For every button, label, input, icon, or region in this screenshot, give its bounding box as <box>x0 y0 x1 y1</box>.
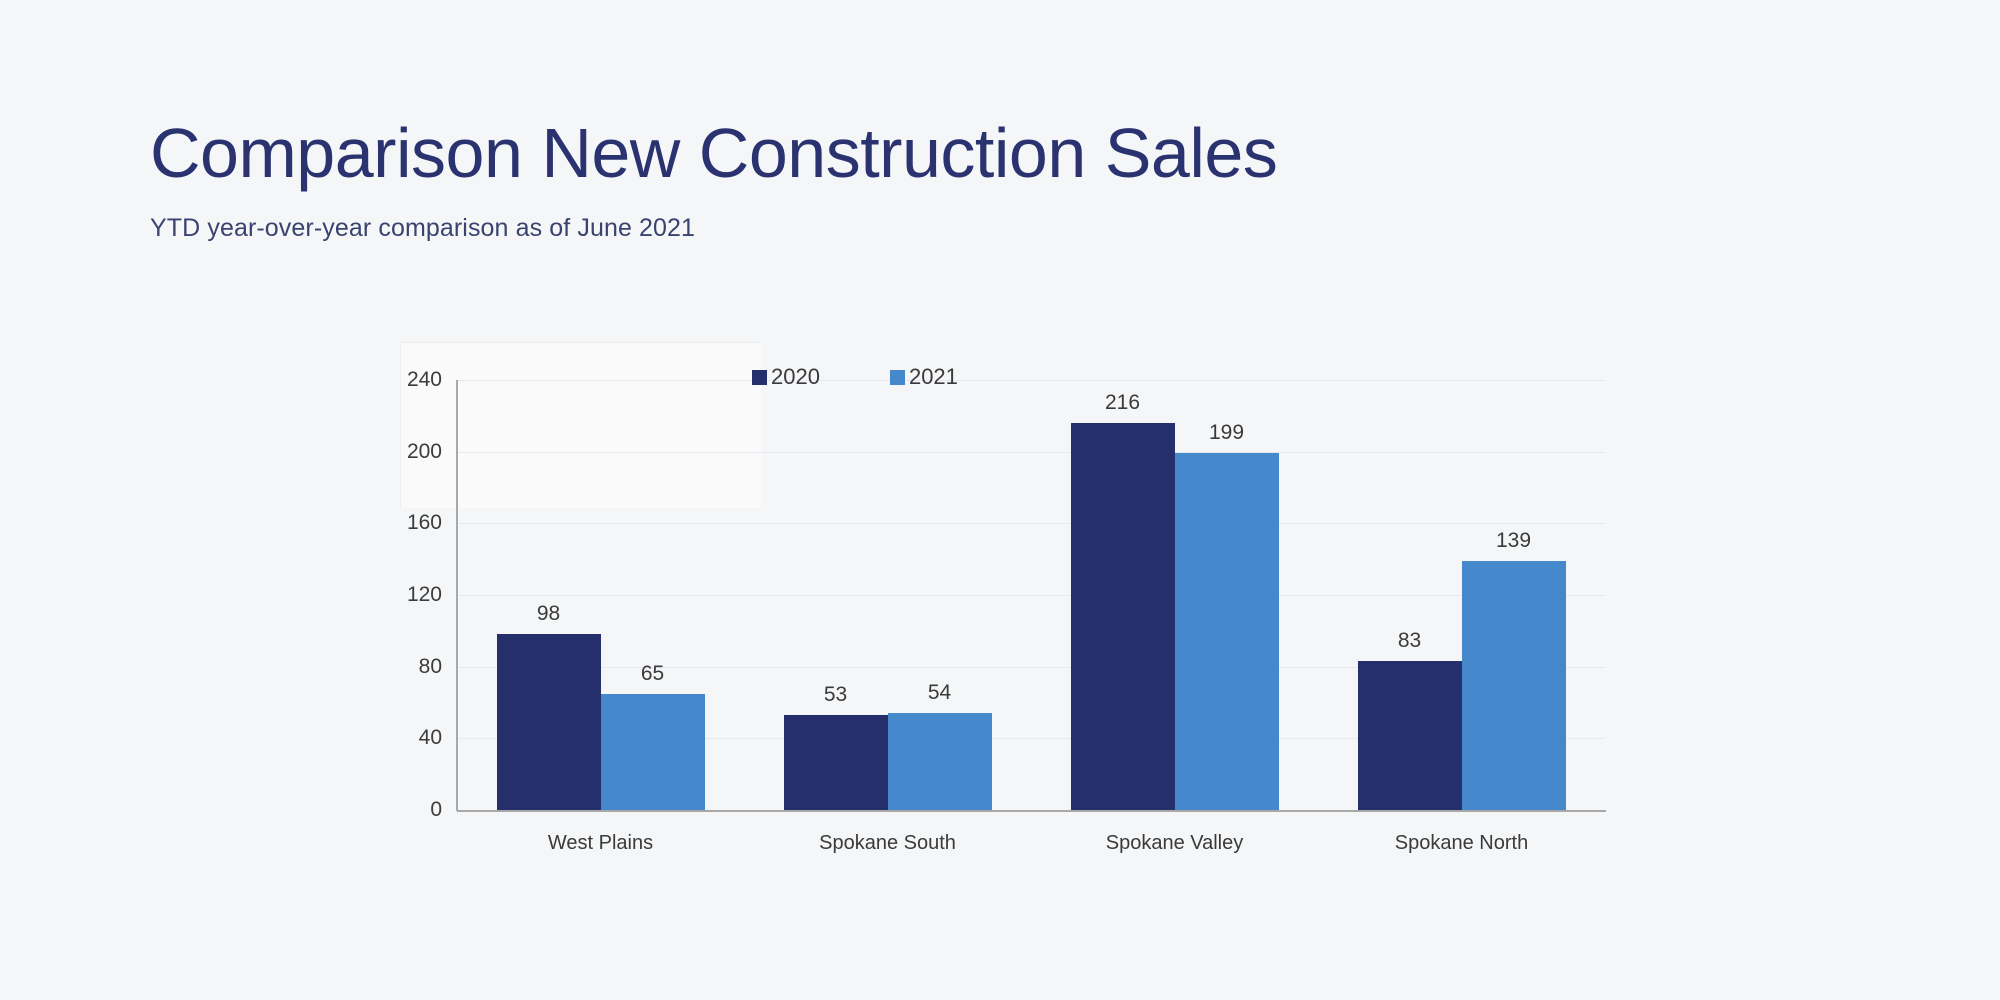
legend-swatch-2020 <box>752 370 767 385</box>
x-axis-line <box>457 810 1606 812</box>
y-axis-tick-label: 40 <box>382 726 442 750</box>
y-axis-tick-label: 0 <box>382 798 442 822</box>
bar-value-label: 65 <box>641 662 664 686</box>
legend-item-1[interactable]: 2021 <box>890 366 958 388</box>
x-axis-category-labels: West PlainsSpokane SouthSpokane ValleySp… <box>457 832 1605 862</box>
chart-legend: 2020 2021 <box>752 366 958 388</box>
y-axis-tick-label: 200 <box>382 440 442 464</box>
bar[interactable] <box>784 715 888 810</box>
bar-value-label: 53 <box>824 683 847 707</box>
bars-layer: 9865535421619983139 <box>457 380 1605 810</box>
bar-value-label: 54 <box>928 681 951 705</box>
y-axis-tick-label: 80 <box>382 655 442 679</box>
bar[interactable] <box>497 634 601 810</box>
y-axis-tick-label: 240 <box>382 368 442 392</box>
bar[interactable] <box>601 694 705 810</box>
bar-value-label: 216 <box>1105 391 1140 415</box>
bar-chart: 04080120160200240 9865535421619983139 We… <box>0 0 2000 1000</box>
x-axis-category-label: Spokane Valley <box>1106 832 1244 855</box>
y-axis-line <box>456 380 458 811</box>
bar-value-label: 83 <box>1398 629 1421 653</box>
bar[interactable] <box>1175 453 1279 810</box>
plot-area: 9865535421619983139 <box>457 380 1605 810</box>
y-axis-tick-label: 120 <box>382 583 442 607</box>
bar[interactable] <box>1358 661 1462 810</box>
legend-item-0[interactable]: 2020 <box>752 366 820 388</box>
y-axis-tick-label: 160 <box>382 511 442 535</box>
y-axis-tick-labels: 04080120160200240 <box>380 380 442 810</box>
bar-value-label: 98 <box>537 602 560 626</box>
x-axis-category-label: West Plains <box>548 832 653 855</box>
bar[interactable] <box>888 713 992 810</box>
legend-label-2020: 2020 <box>771 366 820 388</box>
legend-label-2021: 2021 <box>909 366 958 388</box>
legend-swatch-2021 <box>890 370 905 385</box>
x-axis-category-label: Spokane South <box>819 832 956 855</box>
bar-value-label: 199 <box>1209 421 1244 445</box>
x-axis-category-label: Spokane North <box>1395 832 1528 855</box>
bar[interactable] <box>1462 561 1566 810</box>
bar-value-label: 139 <box>1496 529 1531 553</box>
bar[interactable] <box>1071 423 1175 810</box>
